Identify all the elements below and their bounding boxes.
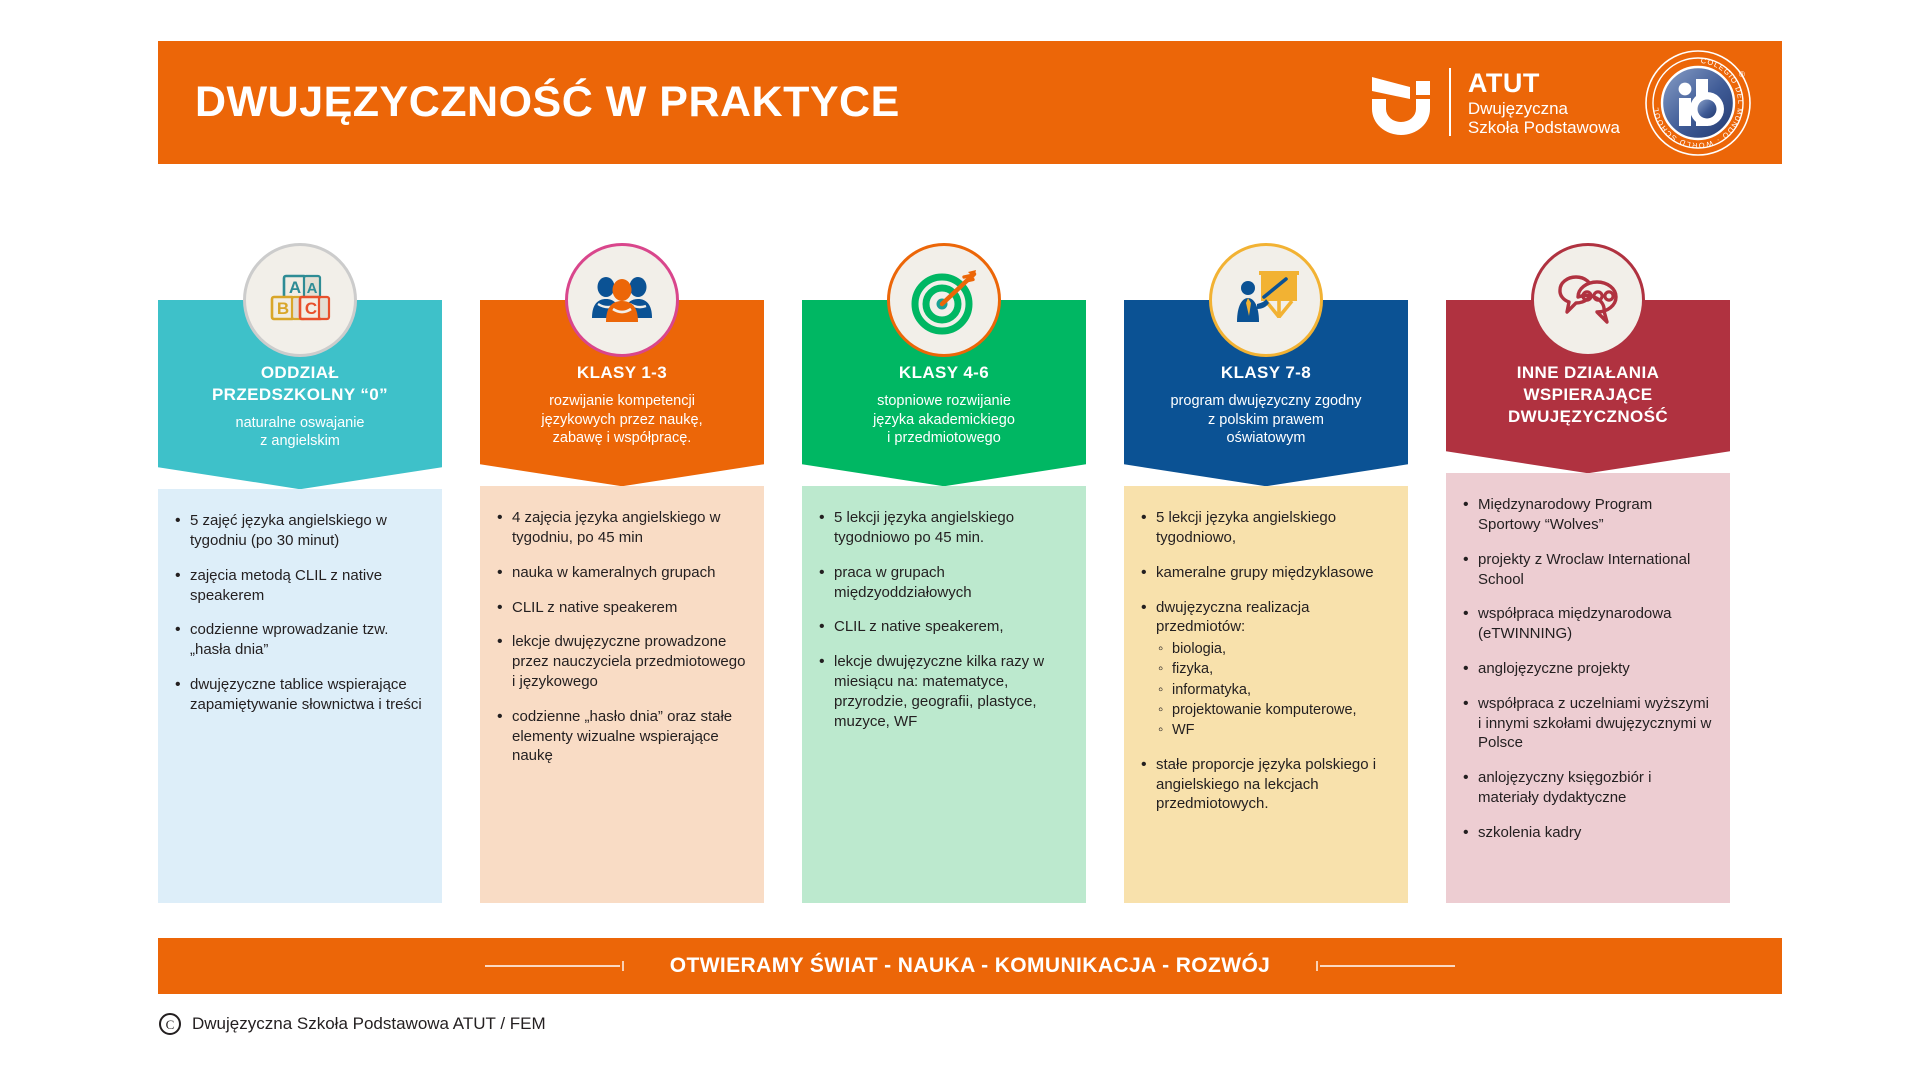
list-item: dwujęzyczne tablice wspierające zapamięt… (174, 675, 426, 715)
arrow-right-rule-icon (485, 959, 630, 973)
svg-text:A: A (289, 278, 301, 297)
column-body: 5 lekcji języka angielskiego tygodniowo,… (1124, 486, 1408, 903)
column-subtitle: program dwujęzyczny zgodny z polskim pra… (1134, 392, 1398, 449)
sub-bullet-list: biologia, fizyka, informatyka, projektow… (1156, 640, 1392, 740)
list-item-label: dwujęzyczna realizacja przedmiotów: (1156, 599, 1309, 636)
column-body: 4 zajęcia języka angielskiego w tygodniu… (480, 486, 764, 903)
column-subtitle: rozwijanie kompetencji językowych przez … (490, 392, 754, 449)
column-inne-dzialania: INNE DZIAŁANIA WSPIERAJĄCE DWUJĘZYCZNOŚĆ… (1446, 243, 1730, 903)
bullet-list: 5 lekcji języka angielskiego tygodniowo … (818, 508, 1070, 731)
header-logos: ATUT Dwujęzyczna Szkoła Podstawowa (1370, 41, 1752, 164)
list-item: praca w grupach międzyoddziałowych (818, 563, 1070, 603)
copyright-text: Dwujęzyczna Szkoła Podstawowa ATUT / FEM (192, 1014, 546, 1034)
list-item: współpraca z uczelniami wyższymi i innym… (1462, 694, 1714, 753)
atut-u-mark-icon (1370, 69, 1432, 135)
svg-text:C: C (166, 1017, 175, 1032)
column-subtitle: naturalne oswajanie z angielskim (168, 414, 432, 452)
sub-list-item: biologia, (1156, 640, 1392, 659)
atut-brand-name: ATUT (1468, 68, 1620, 98)
column-title: KLASY 7-8 (1134, 362, 1398, 384)
column-body: 5 lekcji języka angielskiego tygodniowo … (802, 486, 1086, 903)
ib-world-school-logo: COLEGIO DEL MUNDO · WORLD SCHOOL · ÉCOLE… (1644, 49, 1752, 157)
list-item: dwujęzyczna realizacja przedmiotów: biol… (1140, 598, 1392, 740)
copyright-icon: C (158, 1012, 182, 1036)
column-klasy-7-8: KLASY 7-8 program dwujęzyczny zgodny z p… (1124, 243, 1408, 903)
column-title: KLASY 1-3 (490, 362, 754, 384)
list-item: lekcje dwujęzyczne prowadzone przez nauc… (496, 632, 748, 691)
column-title: KLASY 4-6 (812, 362, 1076, 384)
bullet-list: 5 zajęć języka angielskiego w tygodniu (… (174, 511, 426, 714)
column-subtitle: stopniowe rozwijanie języka akademickieg… (812, 392, 1076, 449)
column-body: 5 zajęć języka angielskiego w tygodniu (… (158, 489, 442, 903)
list-item: codzienne wprowadzanie tzw. „hasła dnia” (174, 620, 426, 660)
sub-list-item: projektowanie komputerowe, (1156, 701, 1392, 720)
list-item: kameralne grupy międzyklasowe (1140, 563, 1392, 583)
group-people-icon (565, 243, 679, 357)
list-item: 5 lekcji języka angielskiego tygodniowo … (818, 508, 1070, 548)
column-oddzial-przedszkolny: A A B C ODDZIAŁ PRZEDSZKOLNY “0” na (158, 243, 442, 903)
logo-divider (1449, 68, 1451, 136)
sub-list-item: fizyka, (1156, 660, 1392, 679)
abc-blocks-icon: A A B C (243, 243, 357, 357)
teacher-whiteboard-icon (1209, 243, 1323, 357)
list-item: codzienne „hasło dnia” oraz stałe elemen… (496, 707, 748, 766)
page-title: DWUJĘZYCZNOŚĆ W PRAKTYCE (195, 78, 900, 127)
header-banner: DWUJĘZYCZNOŚĆ W PRAKTYCE ATUT Dwujęzyczn… (158, 41, 1782, 164)
column-title: INNE DZIAŁANIA WSPIERAJĄCE DWUJĘZYCZNOŚĆ (1456, 362, 1720, 427)
list-item: 4 zajęcia języka angielskiego w tygodniu… (496, 508, 748, 548)
footer-banner: OTWIERAMY ŚWIAT - NAUKA - KOMUNIKACJA - … (158, 938, 1782, 994)
sub-list-item: WF (1156, 721, 1392, 740)
arrow-left-rule-icon (1310, 959, 1455, 973)
copyright: C Dwujęzyczna Szkoła Podstawowa ATUT / F… (158, 1012, 546, 1036)
bullet-list: 5 lekcji języka angielskiego tygodniowo,… (1140, 508, 1392, 814)
atut-wordmark: ATUT Dwujęzyczna Szkoła Podstawowa (1468, 68, 1620, 136)
list-item: współpraca międzynarodowa (eTWINNING) (1462, 604, 1714, 644)
infographic-page: DWUJĘZYCZNOŚĆ W PRAKTYCE ATUT Dwujęzyczn… (0, 0, 1920, 1080)
speech-bubbles-icon (1531, 243, 1645, 357)
list-item: zajęcia metodą CLIL z native speakerem (174, 566, 426, 606)
list-item: anglojęzyczne projekty (1462, 659, 1714, 679)
svg-text:B: B (277, 299, 289, 318)
atut-logo: ATUT Dwujęzyczna Szkoła Podstawowa (1370, 68, 1620, 136)
list-item: projekty z Wroclaw International School (1462, 550, 1714, 590)
list-item: nauka w kameralnych grupach (496, 563, 748, 583)
svg-text:®: ® (1739, 70, 1745, 79)
bullet-list: Międzynarodowy Program Sportowy “Wolves”… (1462, 495, 1714, 842)
list-item: Międzynarodowy Program Sportowy “Wolves” (1462, 495, 1714, 535)
bullet-list: 4 zajęcia języka angielskiego w tygodniu… (496, 508, 748, 766)
list-item: 5 zajęć języka angielskiego w tygodniu (… (174, 511, 426, 551)
target-arrow-icon (887, 243, 1001, 357)
list-item: CLIL z native speakerem (496, 598, 748, 618)
footer-slogan: OTWIERAMY ŚWIAT - NAUKA - KOMUNIKACJA - … (670, 954, 1271, 978)
columns-container: A A B C ODDZIAŁ PRZEDSZKOLNY “0” na (158, 243, 1782, 903)
sub-list-item: informatyka, (1156, 681, 1392, 700)
column-title: ODDZIAŁ PRZEDSZKOLNY “0” (168, 362, 432, 406)
column-body: Międzynarodowy Program Sportowy “Wolves”… (1446, 473, 1730, 903)
atut-brand-line2: Szkoła Podstawowa (1468, 118, 1620, 137)
list-item: anlojęzyczny księgozbiór i materiały dyd… (1462, 768, 1714, 808)
column-klasy-1-3: KLASY 1-3 rozwijanie kompetencji językow… (480, 243, 764, 903)
list-item: stałe proporcje języka polskiego i angie… (1140, 755, 1392, 814)
list-item: lekcje dwujęzyczne kilka razy w miesiącu… (818, 652, 1070, 731)
atut-brand-line1: Dwujęzyczna (1468, 99, 1620, 118)
list-item: CLIL z native speakerem, (818, 617, 1070, 637)
column-klasy-4-6: KLASY 4-6 stopniowe rozwijanie języka ak… (802, 243, 1086, 903)
list-item: 5 lekcji języka angielskiego tygodniowo, (1140, 508, 1392, 548)
svg-text:C: C (305, 299, 317, 318)
list-item: szkolenia kadry (1462, 823, 1714, 843)
svg-text:A: A (307, 280, 318, 297)
